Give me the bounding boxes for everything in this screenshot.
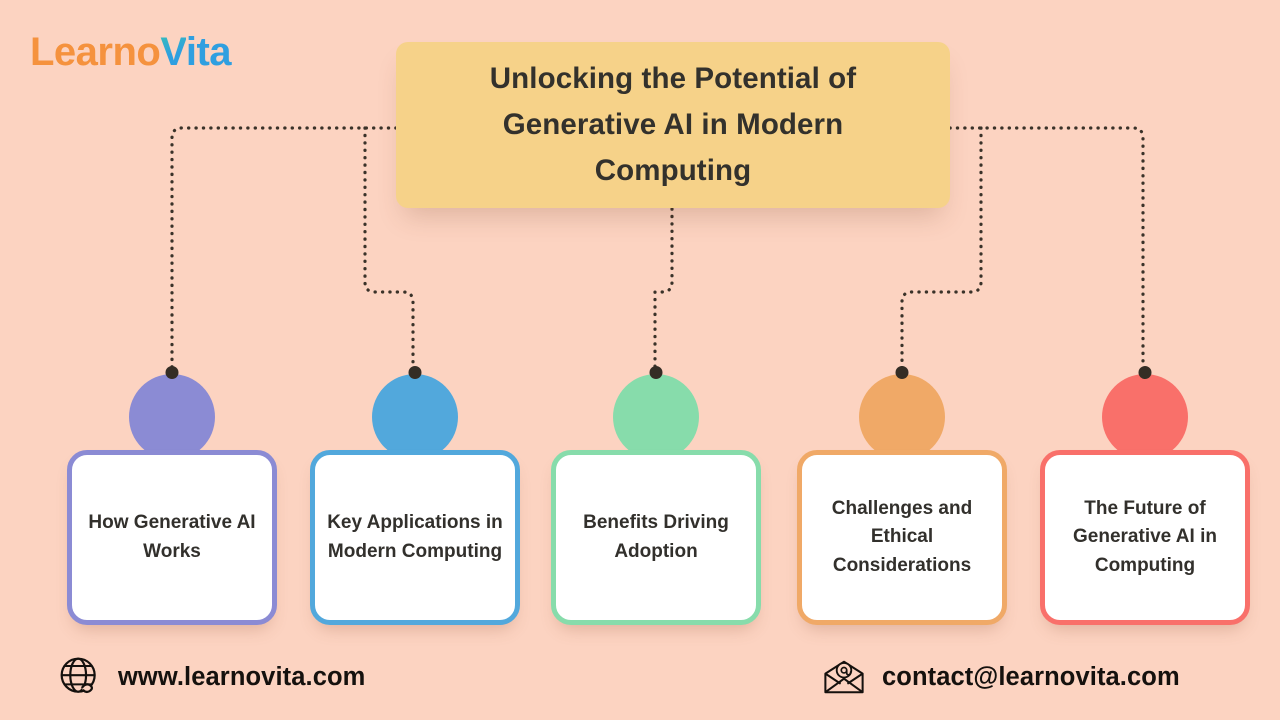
envelope-at-icon (822, 655, 866, 699)
logo-text-learno: Learno (30, 30, 160, 74)
topic-card-label-3: Benefits Driving Adoption (568, 509, 744, 566)
footer-website[interactable]: www.learnovita.com (58, 655, 365, 699)
topic-card-label-4: Challenges and Ethical Considerations (814, 495, 990, 580)
topic-card-5[interactable]: The Future of Generative AI in Computing (1040, 450, 1250, 625)
infographic-canvas: LearnoVita Unlocking the Potential of Ge… (0, 0, 1280, 720)
accent-bubble-3 (613, 374, 699, 460)
topic-card-label-2: Key Applications in Modern Computing (327, 509, 503, 566)
globe-icon (58, 655, 102, 699)
connector-endpoint-dot (166, 366, 179, 379)
logo-text-v: V (160, 30, 185, 74)
topic-card-2[interactable]: Key Applications in Modern Computing (310, 450, 520, 625)
connector-endpoint-dot (896, 366, 909, 379)
accent-bubble-2 (372, 374, 458, 460)
website-label: www.learnovita.com (118, 663, 365, 692)
topic-card-1[interactable]: How Generative AI Works (67, 450, 277, 625)
logo-text-ita: ita (186, 30, 231, 74)
topic-card-row: How Generative AI Works Key Applications… (0, 368, 1280, 638)
accent-bubble-5 (1102, 374, 1188, 460)
footer-email[interactable]: contact@learnovita.com (822, 655, 1180, 699)
connector-endpoint-dot (1139, 366, 1152, 379)
connector-path-5 (950, 128, 1143, 368)
accent-bubble-4 (859, 374, 945, 460)
accent-bubble-1 (129, 374, 215, 460)
connector-path-1 (172, 128, 396, 368)
topic-card-label-1: How Generative AI Works (84, 509, 260, 566)
learnovita-logo: LearnoVita (30, 32, 231, 72)
page-title: Unlocking the Potential of Generative AI… (422, 56, 924, 193)
main-title-box: Unlocking the Potential of Generative AI… (396, 42, 950, 208)
connector-endpoint-dot (409, 366, 422, 379)
topic-card-3[interactable]: Benefits Driving Adoption (551, 450, 761, 625)
topic-card-label-5: The Future of Generative AI in Computing (1057, 495, 1233, 580)
connector-path-3 (655, 209, 672, 370)
topic-card-4[interactable]: Challenges and Ethical Considerations (797, 450, 1007, 625)
connector-endpoint-dot (650, 366, 663, 379)
email-label: contact@learnovita.com (882, 663, 1180, 692)
